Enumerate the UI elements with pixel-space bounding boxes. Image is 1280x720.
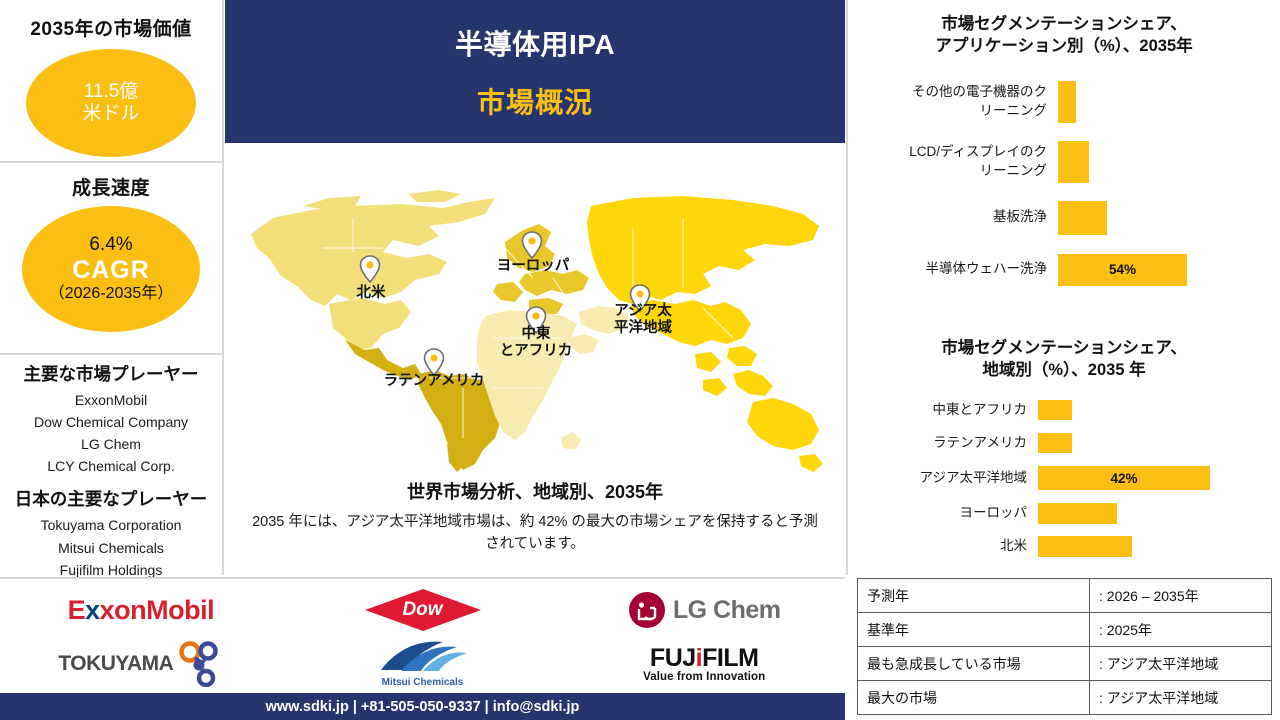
application-bar: 54% bbox=[1058, 254, 1187, 286]
application-bar-label: 基板洗浄 bbox=[848, 208, 1058, 226]
cagr-rate: 6.4% bbox=[89, 234, 132, 256]
map-label-europe: ヨーロッパ bbox=[468, 258, 598, 275]
market-value-title: 2035年の市場価値 bbox=[0, 0, 222, 41]
application-bar-label-line1: 半導体ウェハー洗浄 bbox=[848, 260, 1047, 278]
market-value-line2: 米ドル bbox=[82, 103, 139, 125]
page-subtitle: 市場概況 bbox=[477, 81, 593, 121]
application-bar-label-line2: リーニング bbox=[848, 162, 1047, 180]
application-bar bbox=[1058, 141, 1089, 183]
fujifilm-text-a: FUJ bbox=[650, 644, 696, 672]
right-sidebar: 市場セグメンテーションシェア、 アプリケーション別（%）、2035年 その他の電… bbox=[848, 0, 1280, 575]
application-bar-label-line1: 基板洗浄 bbox=[848, 208, 1047, 226]
table-key: 予測年 bbox=[858, 579, 1090, 613]
map-caption-title: 世界市場分析、地域別、2035年 bbox=[225, 478, 845, 504]
logo-lg-chem: LG Chem bbox=[563, 581, 845, 639]
world-map-panel: 北米 ヨーロッパ アジア太 平洋地域 中東 とアフリカ ラテンアメリカ 世界市場… bbox=[225, 143, 845, 575]
application-bar-label-line1: LCD/ディスプレイのク bbox=[848, 143, 1047, 161]
regional-bar-track bbox=[1038, 536, 1280, 557]
regional-bar-track bbox=[1038, 503, 1280, 524]
map-label-asia-pacific-line1: アジア太 bbox=[614, 303, 671, 319]
mitsui-wave-icon bbox=[375, 640, 471, 676]
growth-rate-ellipse: 6.4% CAGR （2026-2035年） bbox=[22, 206, 200, 332]
market-value-line1: 11.5億 bbox=[84, 81, 139, 103]
application-bar-row: LCD/ディスプレイのク リーニング bbox=[848, 132, 1280, 192]
regional-bar-label: 北米 bbox=[848, 537, 1038, 555]
map-label-asia-pacific-line2: 平洋地域 bbox=[614, 320, 672, 336]
regional-bar-label: アジア太平洋地域 bbox=[848, 469, 1038, 487]
map-pin-europe-icon bbox=[521, 231, 543, 259]
application-chart-title: 市場セグメンテーションシェア、 アプリケーション別（%）、2035年 bbox=[848, 0, 1280, 58]
left-sidebar: 2035年の市場価値 11.5億 米ドル 成長速度 6.4% CAGR （202… bbox=[0, 0, 222, 575]
application-chart-title-line1: 市場セグメンテーションシェア、 bbox=[862, 14, 1266, 36]
company-logos: ExxonMobil Dow bbox=[0, 577, 845, 695]
application-bar bbox=[1058, 201, 1107, 235]
left-column-divider bbox=[222, 0, 224, 575]
fujifilm-tagline: Value from Innovation bbox=[643, 671, 765, 683]
exxonmobil-text-a: E bbox=[68, 595, 86, 625]
table-row: 予測年 : 2026 – 2035年 bbox=[858, 579, 1272, 613]
regional-bar bbox=[1038, 433, 1072, 453]
regional-bar-row: ヨーロッパ bbox=[848, 497, 1280, 530]
exxonmobil-text-c: xonMobil bbox=[100, 595, 214, 625]
player-item: LCY Chemical Corp. bbox=[0, 455, 222, 477]
regional-bar-value: 42% bbox=[1110, 471, 1137, 486]
lg-chem-text: LG Chem bbox=[673, 596, 781, 625]
application-bar-label-line1: その他の電子機器のク bbox=[848, 83, 1047, 101]
mitsui-text: Mitsui Chemicals bbox=[382, 677, 464, 688]
table-value: : 2026 – 2035年 bbox=[1090, 579, 1272, 613]
logo-dow: Dow bbox=[282, 581, 564, 639]
player-item: LG Chem bbox=[0, 433, 222, 455]
map-caption-body: 2035 年には、アジア太平洋地域市場は、約 42% の最大の市場シェアを保持す… bbox=[247, 511, 823, 555]
tokuyama-mark-icon bbox=[175, 641, 223, 687]
lg-circle-icon bbox=[628, 591, 666, 629]
market-value-ellipse: 11.5億 米ドル bbox=[26, 49, 196, 157]
fujifilm-text-b: FILM bbox=[702, 644, 758, 672]
map-label-latin-america: ラテンアメリカ bbox=[349, 373, 519, 390]
map-label-asia-pacific: アジア太 平洋地域 bbox=[589, 303, 697, 338]
regional-bar-track bbox=[1038, 400, 1280, 420]
contact-footer: www.sdki.jp | +81-505-050-9337 | info@sd… bbox=[0, 693, 845, 720]
regional-bar: 42% bbox=[1038, 466, 1210, 490]
regional-bar-row: アジア太平洋地域 42% bbox=[848, 460, 1280, 497]
logo-mitsui-chemicals: Mitsui Chemicals bbox=[282, 635, 564, 693]
market-value-card: 2035年の市場価値 11.5億 米ドル bbox=[0, 0, 222, 163]
table-key: 基準年 bbox=[858, 613, 1090, 647]
application-chart-title-line2: アプリケーション別（%）、2035年 bbox=[862, 36, 1266, 58]
player-item: Dow Chemical Company bbox=[0, 411, 222, 433]
page-title: 半導体用IPA bbox=[455, 23, 615, 63]
cagr-label: CAGR bbox=[72, 256, 150, 285]
regional-bar bbox=[1038, 503, 1117, 524]
regional-chart-title-line1: 市場セグメンテーションシェア、 bbox=[862, 338, 1266, 360]
application-bar-row: その他の電子機器のク リーニング bbox=[848, 72, 1280, 132]
application-bar-track: 54% bbox=[1058, 254, 1280, 286]
table-row: 最大の市場 : アジア太平洋地域 bbox=[858, 681, 1272, 715]
application-bar-row: 基板洗浄 bbox=[848, 192, 1280, 244]
logo-fujifilm: FUJiFILM Value from Innovation bbox=[563, 635, 845, 693]
table-value: : 2025年 bbox=[1090, 613, 1272, 647]
map-label-north-america: 北米 bbox=[335, 285, 407, 302]
table-value: : アジア太平洋地域 bbox=[1090, 647, 1272, 681]
regional-bar-label: ヨーロッパ bbox=[848, 504, 1038, 522]
map-label-middle-east-africa: 中東 とアフリカ bbox=[483, 326, 589, 361]
regional-bar-track: 42% bbox=[1038, 466, 1280, 490]
cagr-period: （2026-2035年） bbox=[49, 285, 174, 304]
logo-tokuyama: TOKUYAMA bbox=[0, 635, 282, 693]
application-bar bbox=[1058, 81, 1076, 123]
application-bar-label: 半導体ウェハー洗浄 bbox=[848, 260, 1058, 278]
jp-player-item: Tokuyama Corporation bbox=[0, 514, 222, 536]
application-bar-track bbox=[1058, 201, 1280, 235]
application-bar-value: 54% bbox=[1109, 262, 1136, 277]
regional-bar bbox=[1038, 536, 1132, 557]
regional-bar-row: ラテンアメリカ bbox=[848, 427, 1280, 460]
infographic-page: 2035年の市場価値 11.5億 米ドル 成長速度 6.4% CAGR （202… bbox=[0, 0, 1280, 720]
jp-players-heading: 日本の主要なプレーヤー bbox=[0, 486, 222, 511]
application-bar-row: 半導体ウェハー洗浄 54% bbox=[848, 244, 1280, 296]
contact-text: www.sdki.jp | +81-505-050-9337 | info@sd… bbox=[266, 699, 580, 715]
regional-bar bbox=[1038, 400, 1072, 420]
application-chart: 市場セグメンテーションシェア、 アプリケーション別（%）、2035年 その他の電… bbox=[848, 0, 1280, 340]
application-bar-track bbox=[1058, 81, 1280, 123]
map-pin-latin-america-icon bbox=[423, 348, 445, 376]
application-bar-label: その他の電子機器のク リーニング bbox=[848, 83, 1058, 119]
map-label-mea-line2: とアフリカ bbox=[500, 343, 573, 359]
table-key: 最も急成長している市場 bbox=[858, 647, 1090, 681]
players-card: 主要な市場プレーヤー ExxonMobil Dow Chemical Compa… bbox=[0, 355, 222, 575]
regional-bar-label: ラテンアメリカ bbox=[848, 434, 1038, 452]
table-value: : アジア太平洋地域 bbox=[1090, 681, 1272, 715]
application-bar-track bbox=[1058, 141, 1280, 183]
map-pin-north-america-icon bbox=[359, 255, 381, 283]
title-header: 半導体用IPA 市場概況 bbox=[225, 0, 845, 143]
dow-text: Dow bbox=[402, 599, 442, 621]
regional-bar-label: 中東とアフリカ bbox=[848, 401, 1038, 419]
regional-chart-title: 市場セグメンテーションシェア、 地域別（%）、2035 年 bbox=[848, 338, 1280, 382]
players-heading: 主要な市場プレーヤー bbox=[0, 361, 222, 386]
regional-chart-title-line2: 地域別（%）、2035 年 bbox=[862, 360, 1266, 382]
application-bar-label-line2: リーニング bbox=[848, 102, 1047, 120]
application-bar-label: LCD/ディスプレイのク リーニング bbox=[848, 143, 1058, 179]
logo-exxonmobil: ExxonMobil bbox=[0, 581, 282, 639]
jp-player-item: Mitsui Chemicals bbox=[0, 537, 222, 559]
growth-rate-card: 成長速度 6.4% CAGR （2026-2035年） bbox=[0, 163, 222, 355]
regional-bar-row: 中東とアフリカ bbox=[848, 394, 1280, 427]
table-row: 基準年 : 2025年 bbox=[858, 613, 1272, 647]
table-row: 最も急成長している市場 : アジア太平洋地域 bbox=[858, 647, 1272, 681]
tokuyama-text: TOKUYAMA bbox=[58, 652, 173, 676]
regional-bar-track bbox=[1038, 433, 1280, 453]
map-label-mea-line1: 中東 bbox=[522, 326, 551, 342]
exxonmobil-text-b: x bbox=[85, 595, 100, 625]
regional-chart: 市場セグメンテーションシェア、 地域別（%）、2035 年 中東とアフリカ ラテ… bbox=[848, 338, 1280, 575]
growth-rate-title: 成長速度 bbox=[0, 163, 222, 200]
player-item: ExxonMobil bbox=[0, 389, 222, 411]
summary-table: 予測年 : 2026 – 2035年 基準年 : 2025年 最も急成長している… bbox=[857, 578, 1272, 715]
regional-bar-row: 北米 bbox=[848, 530, 1280, 563]
table-key: 最大の市場 bbox=[858, 681, 1090, 715]
